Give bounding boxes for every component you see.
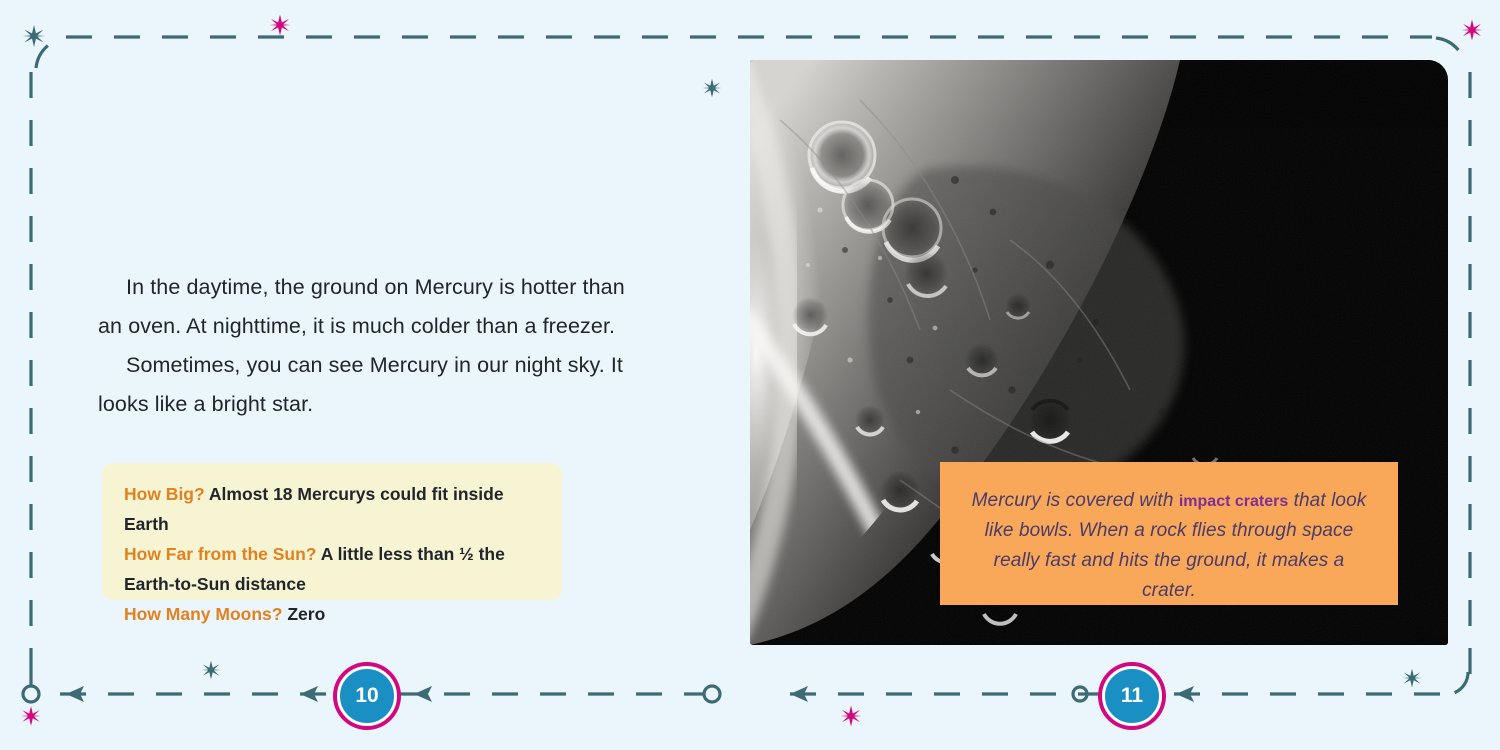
fact-question: How Many Moons? [124,604,282,624]
arrow-left-icon [66,686,1194,702]
star-icon [1403,669,1422,688]
body-text: In the daytime, the ground on Mercury is… [98,268,628,424]
caption-text-before: Mercury is covered with [972,490,1179,511]
circle-endpoint-icon [23,660,39,702]
paragraph: Sometimes, you can see Mercury in our ni… [98,346,628,424]
fact-question: How Big? [124,484,205,504]
star-icon [270,15,291,36]
star-icon [21,706,41,726]
circle-endpoint-icon [704,686,720,702]
page-number-badge-right: 11 [1102,666,1162,726]
circle-endpoint-icon [1073,687,1087,701]
star-icon [703,79,722,98]
page-number: 10 [355,684,378,708]
photo-caption: Mercury is covered with impact craters t… [940,462,1398,605]
star-icon [23,25,45,47]
caption-highlight-term: impact craters [1179,493,1288,510]
page-number: 11 [1121,684,1143,708]
fact-box: How Big? Almost 18 Mercurys could fit in… [102,463,562,600]
fact-row: How Many Moons? Zero [124,599,540,629]
fact-row: How Far from the Sun? A little less than… [124,539,540,599]
star-icon [202,661,221,680]
paragraph: In the daytime, the ground on Mercury is… [98,268,628,346]
fact-question: How Far from the Sun? [124,544,317,564]
star-icon [841,706,862,727]
fact-row: How Big? Almost 18 Mercurys could fit in… [124,479,540,539]
fact-answer: Zero [287,604,325,624]
star-icon [1462,20,1483,41]
book-page-spread: In the daytime, the ground on Mercury is… [0,0,1500,750]
page-number-badge-left: 10 [337,666,397,726]
